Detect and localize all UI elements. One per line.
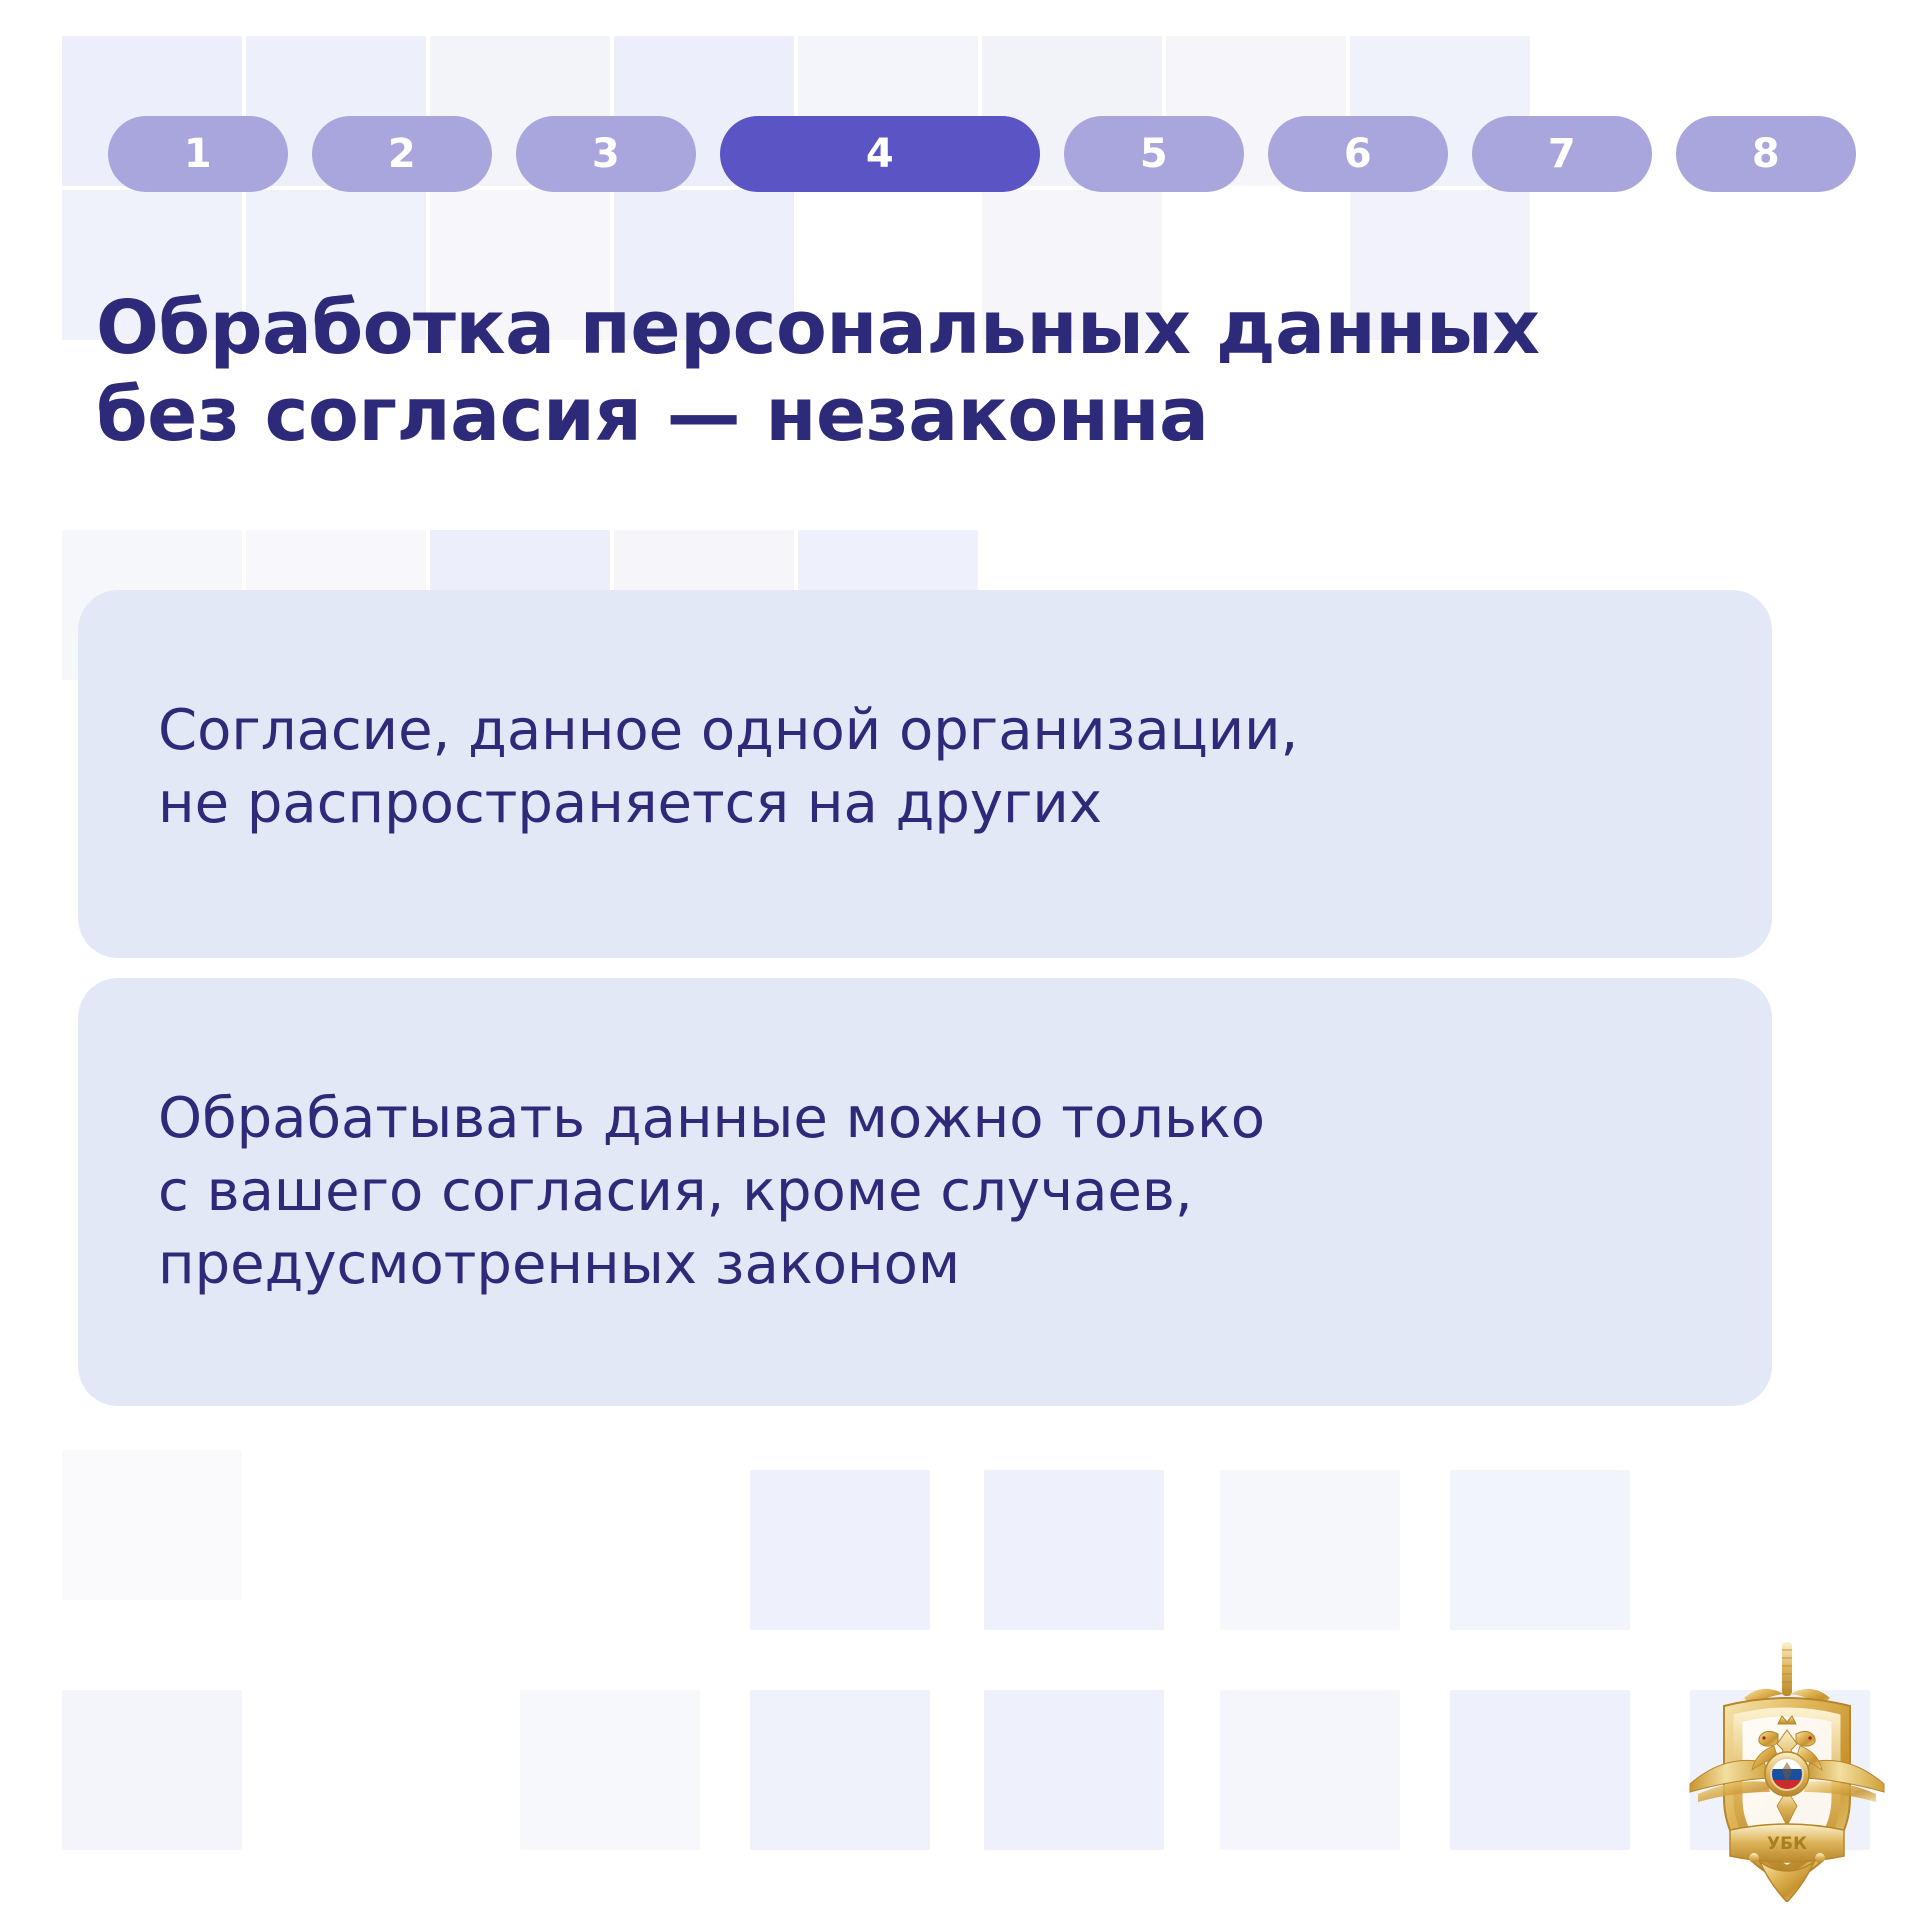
- background-tile: [1450, 1470, 1630, 1630]
- pagination-bar: 12345678: [108, 110, 1868, 198]
- badge-banner-text: УБК: [1767, 1834, 1807, 1854]
- background-tile: [750, 1470, 930, 1630]
- background-tile: [1220, 1690, 1400, 1850]
- ubk-badge-icon: УБК: [1682, 1634, 1892, 1902]
- background-tile: [984, 1470, 1164, 1630]
- info-card-1-line-2: не распространяется на других: [158, 768, 1712, 841]
- background-tile: [750, 1690, 930, 1850]
- pagination-step-3[interactable]: 3: [516, 116, 696, 192]
- info-card-1: Согласие, данное одной организации, не р…: [78, 590, 1772, 958]
- info-card-1-text: Согласие, данное одной организации, не р…: [158, 695, 1712, 841]
- pagination-step-6[interactable]: 6: [1268, 116, 1448, 192]
- background-tile: [1450, 1690, 1630, 1850]
- background-tile: [1220, 1470, 1400, 1630]
- info-card-2-line-2: с вашего согласия, кроме случаев,: [158, 1156, 1712, 1229]
- slide-root: 12345678 Обработка персональных данных б…: [0, 0, 1920, 1920]
- info-card-2: Обрабатывать данные можно только с вашег…: [78, 978, 1772, 1406]
- info-card-2-line-3: предусмотренных законом: [158, 1229, 1712, 1302]
- page-title-line-2: без согласия — незаконна: [96, 372, 1796, 459]
- pagination-step-8[interactable]: 8: [1676, 116, 1856, 192]
- page-title-line-1: Обработка персональных данных: [96, 285, 1796, 372]
- pagination-step-4[interactable]: 4: [720, 116, 1040, 192]
- pagination-step-2[interactable]: 2: [312, 116, 492, 192]
- info-card-2-line-1: Обрабатывать данные можно только: [158, 1083, 1712, 1156]
- page-title: Обработка персональных данных без соглас…: [96, 285, 1796, 458]
- pagination-step-1[interactable]: 1: [108, 116, 288, 192]
- background-tile: [984, 1690, 1164, 1850]
- info-card-2-text: Обрабатывать данные можно только с вашег…: [158, 1083, 1712, 1301]
- background-tile: [62, 1450, 242, 1600]
- info-card-1-line-1: Согласие, данное одной организации,: [158, 695, 1712, 768]
- background-tile: [62, 1690, 242, 1850]
- background-tile: [520, 1690, 700, 1850]
- pagination-step-7[interactable]: 7: [1472, 116, 1652, 192]
- pagination-step-5[interactable]: 5: [1064, 116, 1244, 192]
